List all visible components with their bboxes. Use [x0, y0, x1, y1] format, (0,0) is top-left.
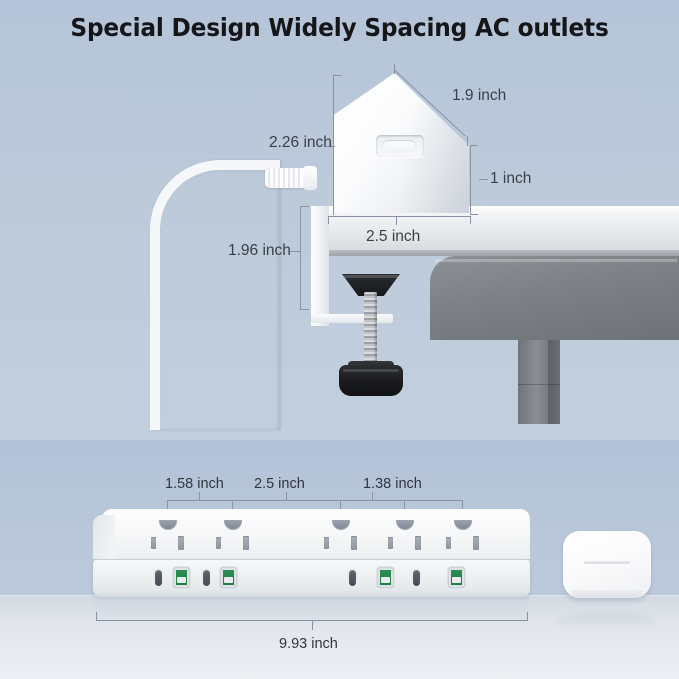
dimension-label-clamp-opening: 1.96 inch — [228, 242, 291, 260]
power-strip — [93, 509, 530, 597]
dimension-label-spacing-2: 2.5 inch — [254, 476, 305, 492]
clamp-knob-highlight — [343, 369, 399, 372]
blade-slot-left — [151, 537, 156, 549]
guide-mount-diagonal-tick-bottom — [467, 136, 468, 146]
ac-outlet-3[interactable] — [318, 520, 364, 552]
mount-bracket-arm — [311, 206, 329, 326]
power-strip-left-bevel — [93, 515, 115, 561]
guide-mount-depth — [328, 216, 470, 217]
usb-a-port-2[interactable] — [221, 568, 236, 587]
guide-clamp-opening-tick-top — [300, 206, 309, 207]
usb-a-port-3[interactable] — [378, 568, 393, 587]
guide-mount-depth-tick-right — [470, 216, 471, 224]
guide-mount-depth-tick-left — [328, 216, 329, 224]
earbuds-case — [563, 531, 651, 598]
blade-slot-left — [324, 537, 329, 549]
mount-slot-inner — [382, 140, 416, 152]
guide-mount-diagonal-tick-top — [394, 64, 395, 74]
guide-spacing-4 — [404, 500, 462, 501]
ground-hole-icon — [224, 520, 242, 530]
blade-slot-right — [243, 536, 249, 550]
mount-bracket-foot — [311, 314, 393, 323]
clamp-pad-highlight — [344, 275, 398, 278]
guide-mount-height-tick-top — [333, 75, 342, 76]
guide-clamp-opening-tick-mid — [291, 251, 300, 252]
guide-clamp-opening-tick-bottom — [300, 309, 309, 310]
desk-shelf-highlight — [434, 259, 677, 262]
ac-outlet-4[interactable] — [382, 520, 428, 552]
desk-shelf — [430, 256, 679, 340]
dimension-label-spacing-1: 1.58 inch — [165, 476, 224, 492]
blade-slot-left — [446, 537, 451, 549]
guide-mount-lower-tick-bottom — [470, 214, 478, 215]
mount-slot — [376, 135, 424, 157]
guide-mount-depth-tick-mid — [396, 216, 397, 225]
earbuds-case-lid-seam — [584, 561, 630, 564]
desk-leg-seam — [518, 384, 560, 385]
blade-slot-right — [351, 536, 357, 550]
ground-hole-icon — [454, 520, 472, 530]
desk-leg-edge — [548, 340, 560, 424]
blade-slot-right — [473, 536, 479, 550]
power-strip-bottom-bevel — [93, 589, 530, 597]
guide-spacing-1-tick — [199, 492, 200, 501]
dimension-label-mount-height: 2.26 inch — [269, 134, 332, 152]
guide-mount-lower-tick-mid — [479, 179, 488, 180]
dimension-label-mount-depth: 2.5 inch — [366, 228, 420, 246]
usb-c-port-1[interactable] — [155, 570, 162, 586]
usb-c-port-2[interactable] — [203, 570, 210, 586]
earbuds-case-reflection — [556, 612, 656, 632]
guide-total-length-tick-left — [96, 612, 97, 621]
blade-slot-left — [388, 537, 393, 549]
guide-total-length-tick-right — [527, 612, 528, 621]
guide-spacing-2-tick — [286, 492, 287, 501]
product-infographic: Special Design Widely Spacing AC outlets — [0, 0, 679, 679]
ground-hole-icon — [396, 520, 414, 530]
ac-outlet-5[interactable] — [440, 520, 486, 552]
dimension-label-mount-lower-height: 1 inch — [490, 170, 531, 188]
usb-a-port-4[interactable] — [449, 568, 464, 587]
clamp-screw — [364, 292, 377, 370]
blade-slot-left — [216, 537, 221, 549]
ac-outlet-2[interactable] — [210, 520, 256, 552]
usb-a-port-1[interactable] — [174, 568, 189, 587]
dimension-label-spacing-3: 1.38 inch — [363, 476, 422, 492]
usb-c-port-3[interactable] — [349, 570, 356, 586]
guide-total-length-tick-mid — [312, 620, 313, 630]
dimension-label-mount-diagonal: 1.9 inch — [452, 87, 506, 105]
ac-outlet-1[interactable] — [145, 520, 191, 552]
power-strip-seam — [93, 559, 530, 560]
blade-slot-right — [178, 536, 184, 550]
ground-hole-icon — [332, 520, 350, 530]
mount-head — [331, 73, 469, 213]
power-cord — [150, 160, 280, 430]
usb-c-port-4[interactable] — [413, 570, 420, 586]
guide-mount-height — [333, 75, 334, 215]
guide-mount-lower-height — [470, 145, 471, 215]
guide-spacing-3-tick — [372, 492, 373, 501]
ground-hole-icon — [159, 520, 177, 530]
earbuds-case-base — [571, 590, 643, 598]
guide-mount-lower-tick-top — [470, 145, 478, 146]
guide-clamp-opening — [300, 206, 301, 310]
page-title: Special Design Widely Spacing AC outlets — [24, 13, 655, 42]
strain-relief-cap — [303, 166, 317, 190]
blade-slot-right — [415, 536, 421, 550]
dimension-label-total-length: 9.93 inch — [279, 636, 338, 652]
